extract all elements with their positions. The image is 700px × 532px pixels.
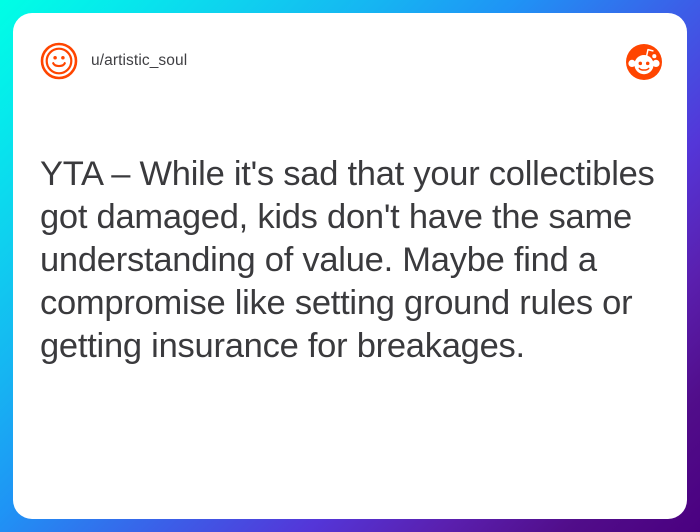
post-text: YTA – While it's sad that your collectib… (40, 153, 660, 368)
reddit-comment-card: u/artistic_soul YTA – (13, 13, 687, 519)
post-body: YTA – While it's sad that your collectib… (40, 153, 660, 368)
username-label: u/artistic_soul (91, 52, 187, 70)
user-identity-block[interactable]: u/artistic_soul (40, 42, 187, 80)
gradient-background: u/artistic_soul YTA – (0, 0, 700, 532)
reddit-snoo-logo-icon[interactable] (626, 44, 662, 80)
smiley-face-avatar-icon (40, 42, 78, 80)
card-header: u/artistic_soul (13, 13, 687, 109)
